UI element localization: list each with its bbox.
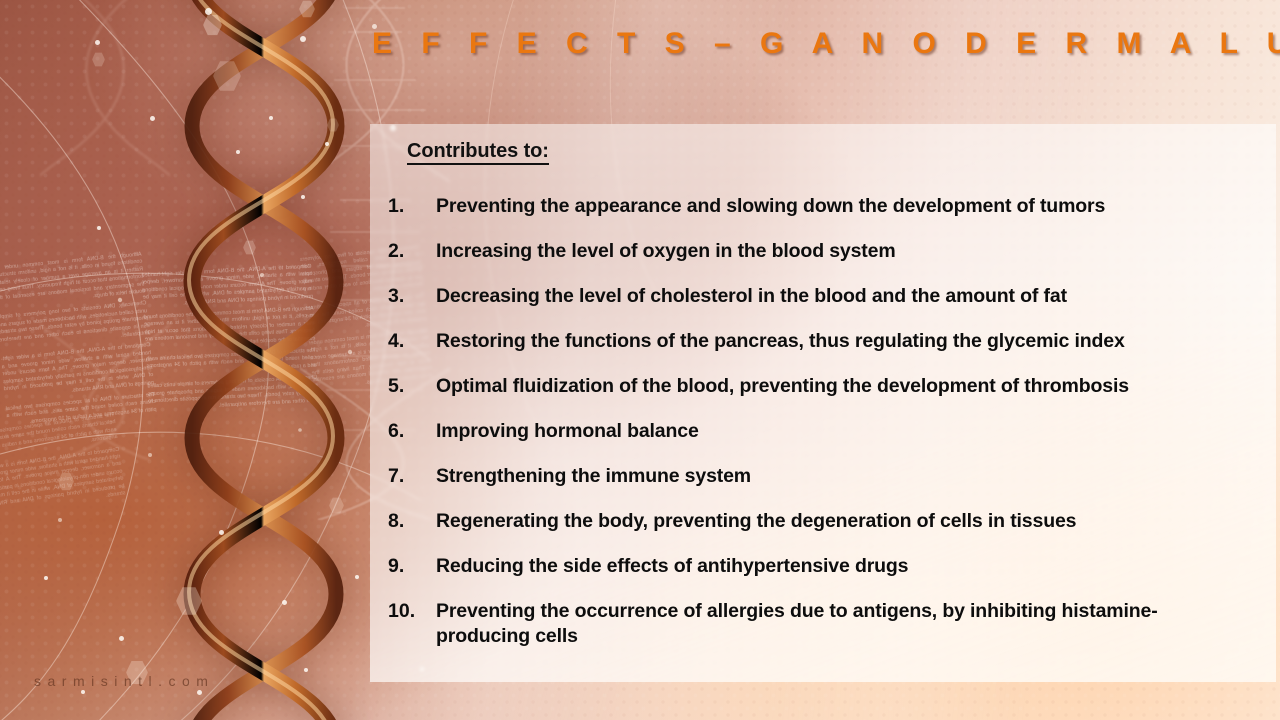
list-item-text: Regenerating the body, preventing the de… [436,509,1270,534]
list-item-number: 4. [380,329,436,354]
list-item-text: Improving hormonal balance [436,419,1270,444]
list-item: 7.Strengthening the immune system [380,464,1270,509]
list-item-number: 3. [380,284,436,309]
list-item: 9.Reducing the side effects of antihyper… [380,554,1270,599]
list-item: 10.Preventing the occurrence of allergie… [380,599,1270,689]
site-watermark: sarmisintl.com [34,673,214,689]
list-item: 6.Improving hormonal balance [380,419,1270,464]
effects-list: 1.Preventing the appearance and slowing … [380,194,1270,689]
list-item-text: Reducing the side effects of antihyperte… [436,554,1270,579]
list-item: 4.Restoring the functions of the pancrea… [380,329,1270,374]
list-item: 3.Decreasing the level of cholesterol in… [380,284,1270,329]
list-item: 1.Preventing the appearance and slowing … [380,194,1270,239]
contributes-heading-text: Contributes to: [407,140,549,165]
list-item-text: Increasing the level of oxygen in the bl… [436,239,1270,264]
contributes-heading: Contributes to: [407,140,549,163]
slide-canvas: Although the B-DNA form is most common u… [0,0,1280,720]
list-item-number: 7. [380,464,436,489]
list-item-number: 9. [380,554,436,579]
list-item: 8.Regenerating the body, preventing the … [380,509,1270,554]
list-item: 5.Optimal fluidization of the blood, pre… [380,374,1270,419]
list-item-number: 6. [380,419,436,444]
list-item-number: 8. [380,509,436,534]
title-band: E F F E C T S – G A N O D E R M A L U C … [0,0,1280,106]
list-item-number: 5. [380,374,436,399]
list-item-text: Strengthening the immune system [436,464,1270,489]
content-panel: Contributes to: 1.Preventing the appeara… [370,124,1276,682]
list-item-text: Optimal fluidization of the blood, preve… [436,374,1270,399]
page-title: E F F E C T S – G A N O D E R M A L U C … [372,27,1272,61]
list-item-text: Preventing the appearance and slowing do… [436,194,1270,219]
list-item-text: Decreasing the level of cholesterol in t… [436,284,1270,309]
list-item-text: Restoring the functions of the pancreas,… [436,329,1270,354]
list-item-number: 1. [380,194,436,219]
list-item: 2.Increasing the level of oxygen in the … [380,239,1270,284]
list-item-text: Preventing the occurrence of allergies d… [436,599,1270,649]
list-item-number: 2. [380,239,436,264]
list-item-number: 10. [380,599,436,624]
